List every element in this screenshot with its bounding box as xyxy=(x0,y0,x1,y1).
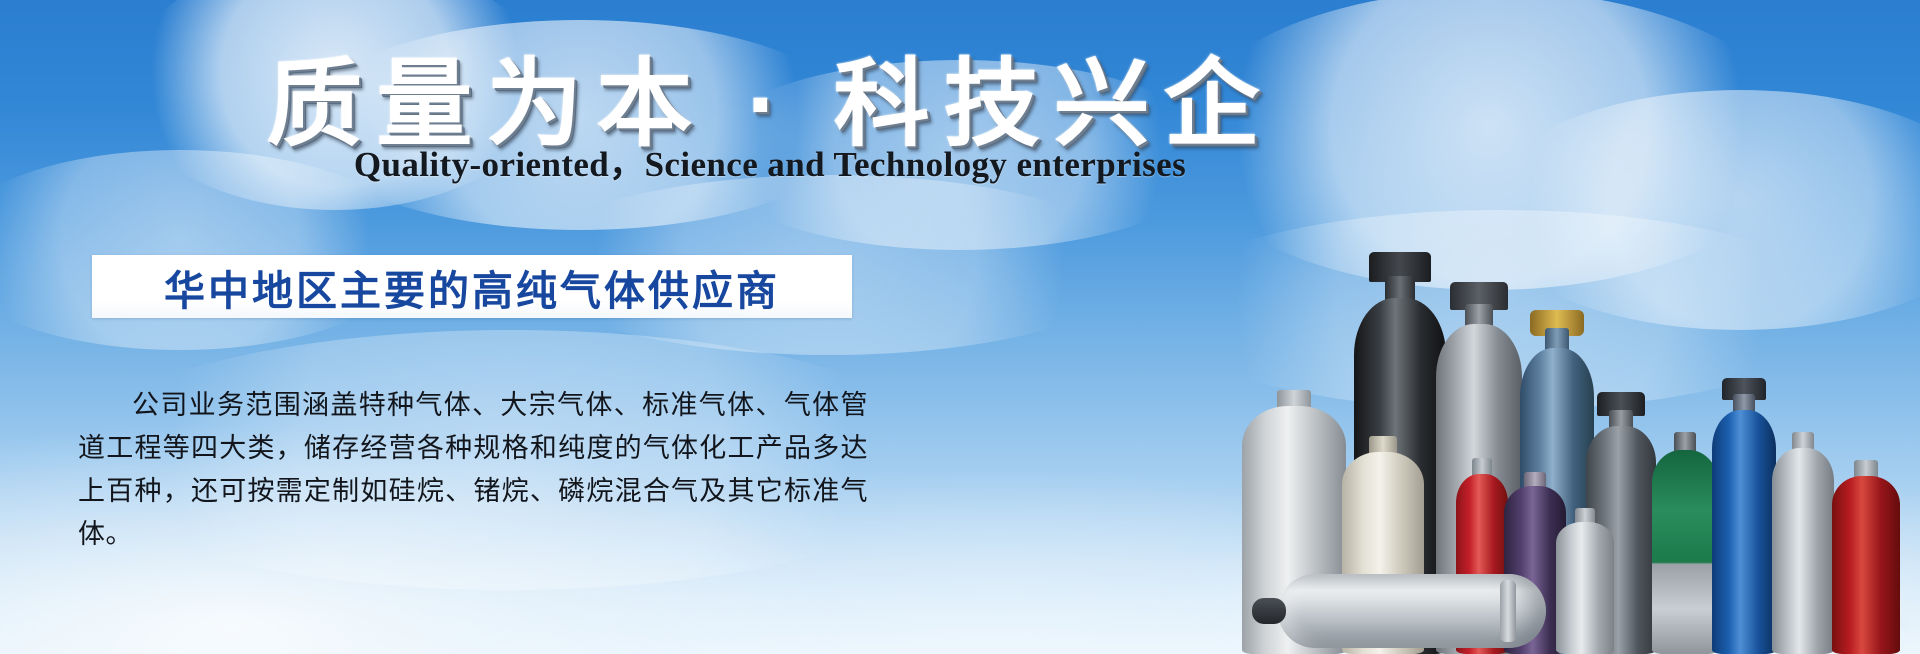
blue-cylinder xyxy=(1712,386,1776,654)
horizontal-tank xyxy=(1278,574,1546,648)
promo-banner: 质量为本 · 科技兴企 Quality-oriented，Science and… xyxy=(0,0,1920,654)
green-capped-cylinder xyxy=(1652,438,1718,654)
aluminium-cylinder xyxy=(1772,438,1834,654)
cylinder-body xyxy=(1556,522,1614,654)
company-description-paragraph: 公司业务范围涵盖特种气体、大宗气体、标准气体、气体管道工程等四大类，储存经营各种… xyxy=(78,384,868,556)
small-aluminium-bottle xyxy=(1556,514,1614,654)
cylinder-body xyxy=(1652,450,1718,654)
cylinder-body xyxy=(1712,410,1776,654)
tank-collar xyxy=(1500,580,1516,642)
cylinder-body xyxy=(1772,448,1834,654)
crimson-cylinder xyxy=(1832,466,1900,654)
tank-valve-tip xyxy=(1252,598,1286,624)
slogan-text: 华中地区主要的高纯气体供应商 xyxy=(164,257,780,317)
gas-cylinder-product-group xyxy=(1260,134,1920,654)
cylinder-body xyxy=(1832,476,1900,654)
slogan-box: 华中地区主要的高纯气体供应商 xyxy=(92,255,852,318)
